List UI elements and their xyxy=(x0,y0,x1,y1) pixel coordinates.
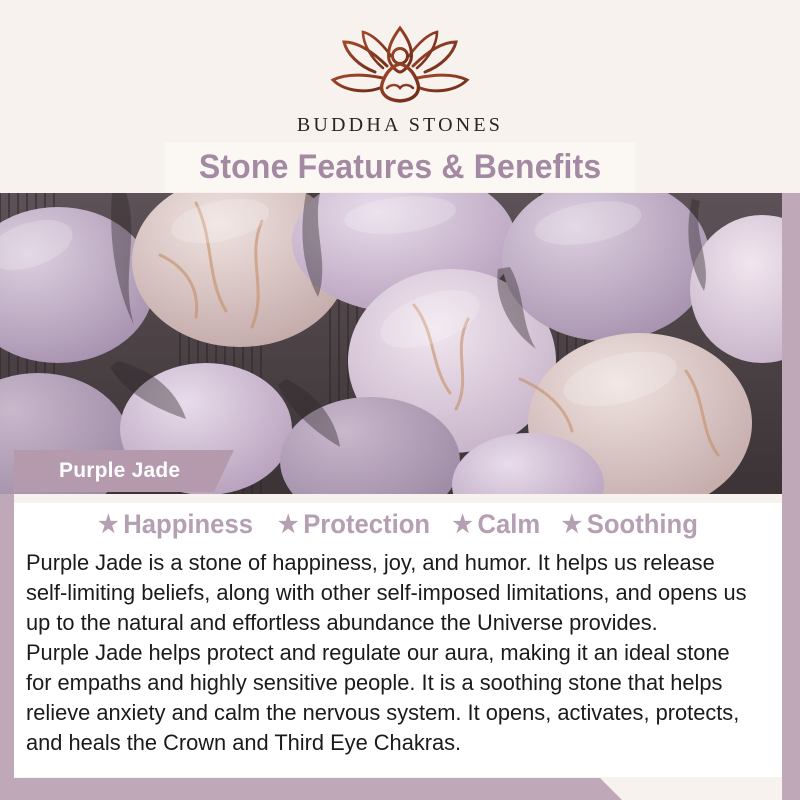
stone-name-tag: Purple Jade xyxy=(14,450,234,492)
star-icon: ★ xyxy=(278,513,298,537)
brand-logo: BUDDHA STONES xyxy=(0,22,800,137)
benefits-list: ★ Happiness ★ Protection ★ Calm ★ Soothi… xyxy=(14,503,782,540)
frame-bottom-band xyxy=(0,778,800,800)
description-paragraph-2: Purple Jade helps protect and regulate o… xyxy=(26,638,748,758)
benefit-label: Soothing xyxy=(587,509,698,540)
star-icon: ★ xyxy=(99,513,119,537)
benefit-label: Calm xyxy=(477,509,540,540)
description-card: ★ Happiness ★ Protection ★ Calm ★ Soothi… xyxy=(14,503,782,777)
frame-left-band xyxy=(0,486,14,800)
photo-graphic xyxy=(0,193,782,494)
lotus-meditation-figure-icon xyxy=(325,22,475,108)
description-text: Purple Jade is a stone of happiness, joy… xyxy=(26,548,748,758)
benefit-item: ★ Happiness xyxy=(99,509,254,540)
description-paragraph-1: Purple Jade is a stone of happiness, joy… xyxy=(26,548,748,638)
benefit-item: ★ Calm xyxy=(452,509,540,540)
benefit-label: Protection xyxy=(303,509,430,540)
star-icon: ★ xyxy=(562,513,582,537)
star-icon: ★ xyxy=(452,513,472,537)
benefit-item: ★ Protection xyxy=(278,509,430,540)
page-title: Stone Features & Benefits xyxy=(199,148,602,187)
brand-name: BUDDHA STONES xyxy=(297,114,503,137)
stone-name-label: Purple Jade xyxy=(59,459,180,483)
benefit-item: ★ Soothing xyxy=(562,509,698,540)
purple-jade-photo xyxy=(0,193,782,494)
section-title-banner: Stone Features & Benefits xyxy=(165,142,635,192)
benefit-label: Happiness xyxy=(124,509,254,540)
stone-info-card: BUDDHA STONES xyxy=(0,0,800,800)
